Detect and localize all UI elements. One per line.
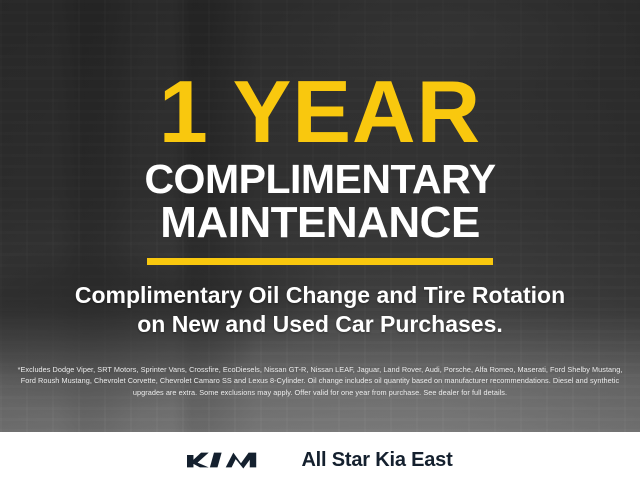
headline-maintenance: MAINTENANCE: [160, 201, 480, 244]
footer-branding[interactable]: All Star Kia East: [187, 449, 452, 472]
dealer-name: All Star Kia East: [301, 449, 452, 472]
hero-content: 1 YEAR COMPLIMENTARY MAINTENANCE Complim…: [0, 0, 640, 432]
offer-line-1: Complimentary Oil Change and Tire Rotati…: [75, 281, 565, 310]
offer-description: Complimentary Oil Change and Tire Rotati…: [75, 281, 565, 339]
headline-year: 1 YEAR: [159, 72, 481, 153]
footer-bar: All Star Kia East: [0, 432, 640, 488]
headline-complimentary: COMPLIMENTARY: [144, 159, 495, 199]
kia-logo-icon: [187, 449, 275, 471]
maintenance-offer-banner: 1 YEAR COMPLIMENTARY MAINTENANCE Complim…: [0, 0, 640, 488]
yellow-divider-rule: [147, 258, 493, 265]
disclaimer-text: *Excludes Dodge Viper, SRT Motors, Sprin…: [15, 364, 625, 399]
offer-line-2: on New and Used Car Purchases.: [75, 310, 565, 339]
hero-section: 1 YEAR COMPLIMENTARY MAINTENANCE Complim…: [0, 0, 640, 432]
